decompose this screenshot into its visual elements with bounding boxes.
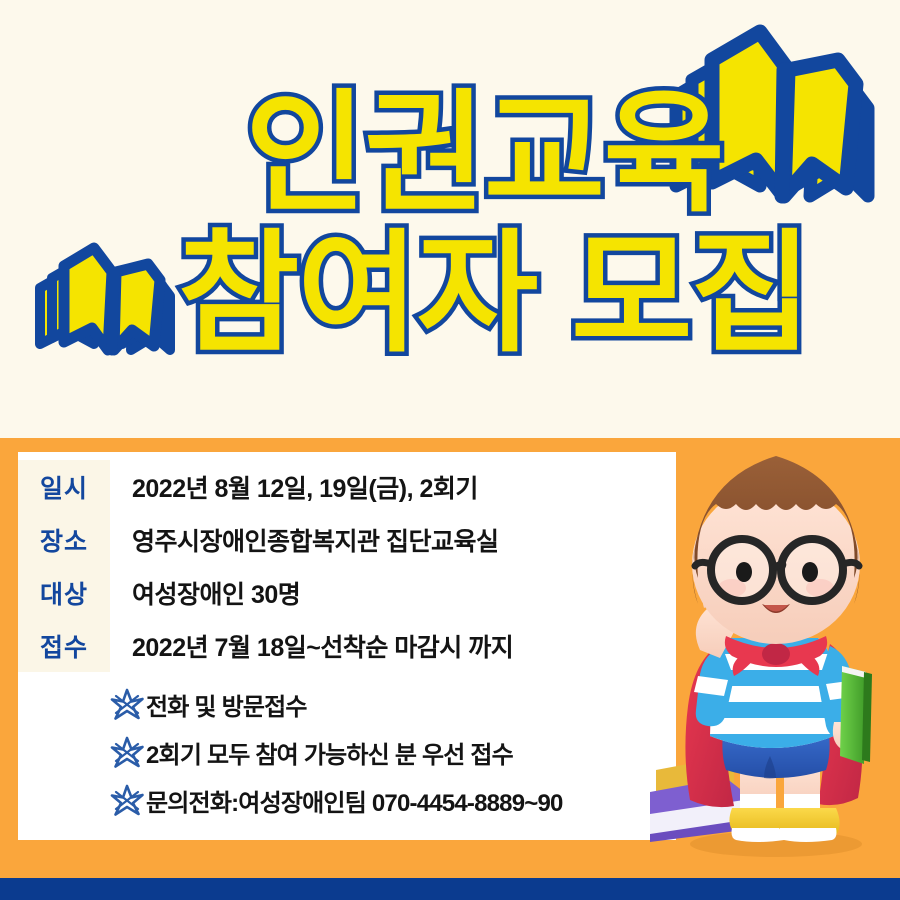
list-item: 전화 및 방문접수: [110, 680, 670, 728]
green-book: [840, 666, 872, 764]
list-item-label: 전화 및 방문접수: [146, 687, 307, 722]
star-icon: [110, 735, 144, 769]
page-title-line-1: 인권교육: [245, 88, 723, 220]
shoes: [729, 808, 839, 842]
table-row: 일시 2022년 8월 12일, 19일(금), 2회기: [18, 460, 676, 513]
info-label-place: 장소: [18, 513, 110, 566]
info-value-target: 여성장애인 30명: [110, 566, 676, 619]
list-item: 문의전화:여성장애인팀 070-4454-8889~90: [110, 776, 670, 824]
title-region: 인권교육 참여자 모집: [0, 0, 900, 438]
list-item-label: 2회기 모두 참여 가능하신 분 우선 접수: [146, 735, 513, 770]
info-label-registration: 접수: [18, 619, 110, 672]
mascot-character-illustration: [648, 440, 900, 878]
page-title-line-2: 참여자 모집: [178, 228, 810, 360]
info-value-registration: 2022년 7월 18일~선착순 마감시 까지: [110, 619, 676, 672]
info-table: 일시 2022년 8월 12일, 19일(금), 2회기 장소 영주시장애인종합…: [18, 460, 676, 672]
star-icon: [110, 687, 144, 721]
info-label-date: 일시: [18, 460, 110, 513]
info-value-place: 영주시장애인종합복지관 집단교육실: [110, 513, 676, 566]
info-label-target: 대상: [18, 566, 110, 619]
table-row: 장소 영주시장애인종합복지관 집단교육실: [18, 513, 676, 566]
open-book-icon: [28, 238, 183, 373]
eye: [802, 562, 818, 582]
list-item: 2회기 모두 참여 가능하신 분 우선 접수: [110, 728, 670, 776]
table-row: 대상 여성장애인 30명: [18, 566, 676, 619]
bottom-bar: [0, 878, 900, 900]
star-icon: [110, 783, 144, 817]
list-item-label: 문의전화:여성장애인팀 070-4454-8889~90: [146, 783, 563, 818]
bullet-list: 전화 및 방문접수 2회기 모두 참여 가능하신 분 우선 접수 문의전화:여성…: [110, 680, 670, 824]
info-value-date: 2022년 8월 12일, 19일(금), 2회기: [110, 460, 676, 513]
table-row: 접수 2022년 7월 18일~선착순 마감시 까지: [18, 619, 676, 672]
info-card: 일시 2022년 8월 12일, 19일(금), 2회기 장소 영주시장애인종합…: [18, 452, 676, 840]
eye: [736, 562, 752, 582]
poster-root: 인권교육 참여자 모집 일: [0, 0, 900, 900]
